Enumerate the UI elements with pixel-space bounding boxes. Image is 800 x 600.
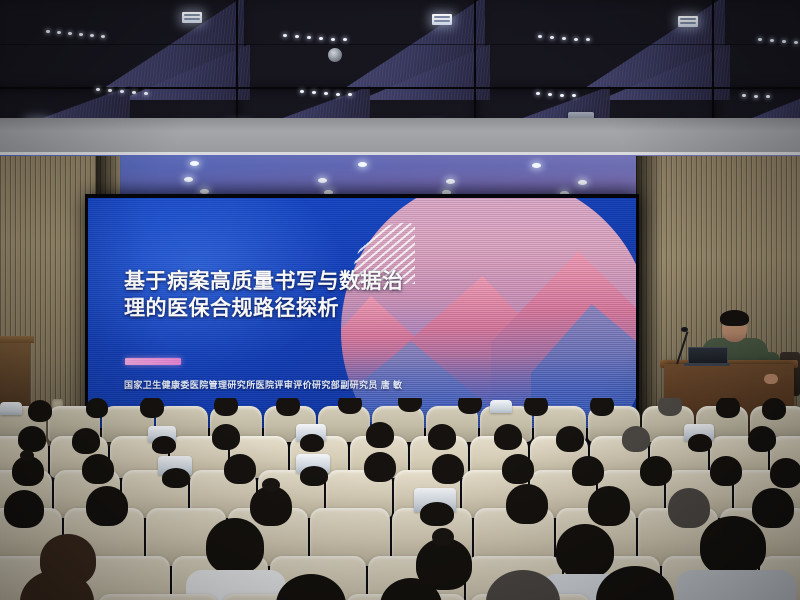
attendee-head [748, 426, 776, 452]
attendee-head [688, 434, 712, 452]
attendee-head [338, 398, 362, 414]
nurse-cap [490, 400, 512, 413]
attendee-shoulder [676, 570, 796, 600]
slide-title: 基于病案高质量书写与数据治理的医保合规路径探析 [124, 268, 424, 322]
attendee-head [556, 524, 614, 578]
attendee-head [432, 454, 464, 484]
microphone-icon [681, 327, 688, 332]
attendee-head [458, 398, 482, 414]
attendee-head [700, 516, 766, 576]
nurse-cap [0, 402, 22, 415]
slide-accent-bar [125, 358, 181, 365]
attendee-head [770, 458, 800, 488]
attendee-head [752, 488, 794, 528]
attendee-head [524, 398, 548, 416]
attendee-head [556, 426, 584, 452]
attendee-head [710, 456, 742, 486]
attendee-head [658, 398, 682, 416]
ceiling-light-fixture [182, 12, 202, 23]
attendee-head [640, 456, 672, 486]
audience-area [0, 398, 800, 600]
attendee-head [588, 486, 630, 526]
ceiling-light-fixture [678, 16, 698, 27]
attendee-head [224, 454, 256, 484]
slide-subtitle: 国家卫生健康委医院管理研究所医院评审评价研究部副研究员 唐 敏 [124, 378, 594, 391]
attendee-head [300, 466, 328, 486]
ceiling [0, 0, 800, 120]
attendee-head [668, 488, 710, 528]
attendee-head [762, 398, 786, 420]
speaker-glasses [724, 322, 744, 328]
attendee-head [4, 490, 44, 528]
laptop-base [684, 363, 730, 366]
attendee-head [428, 424, 456, 450]
attendee-head [364, 452, 396, 482]
attendee-head [300, 434, 324, 452]
side-lectern-top [0, 336, 34, 343]
attendee-head [152, 436, 176, 454]
attendee-head [250, 486, 292, 526]
attendee-head [494, 424, 522, 450]
attendee-head [506, 484, 548, 524]
seat[interactable] [98, 594, 218, 600]
ceiling-light-fixture [432, 14, 452, 25]
attendee-head [72, 428, 100, 454]
attendee-head [590, 398, 614, 416]
attendee-head [140, 398, 164, 418]
attendee-head [214, 398, 238, 416]
attendee-head [420, 502, 454, 526]
lecture-hall-photo: 基于病案高质量书写与数据治理的医保合规路径探析 国家卫生健康委医院管理研究所医院… [0, 0, 800, 600]
attendee-head [622, 426, 650, 452]
attendee-head [572, 456, 604, 486]
attendee-head [716, 398, 740, 418]
attendee-head [28, 400, 52, 422]
attendee-head [366, 422, 394, 448]
dome-camera-icon [328, 48, 342, 62]
speaker-hand [764, 374, 778, 384]
attendee-head [162, 468, 190, 488]
presentation-screen[interactable]: 基于病案高质量书写与数据治理的医保合规路径探析 国家卫生健康委医院管理研究所医院… [88, 198, 636, 428]
attendee-head [86, 486, 128, 526]
attendee-head [206, 518, 264, 574]
attendee-head [82, 454, 114, 484]
attendee-head [502, 454, 534, 484]
attendee-head [18, 426, 46, 452]
attendee-head [276, 398, 300, 416]
attendee-head [212, 424, 240, 450]
attendee-head [86, 398, 108, 418]
